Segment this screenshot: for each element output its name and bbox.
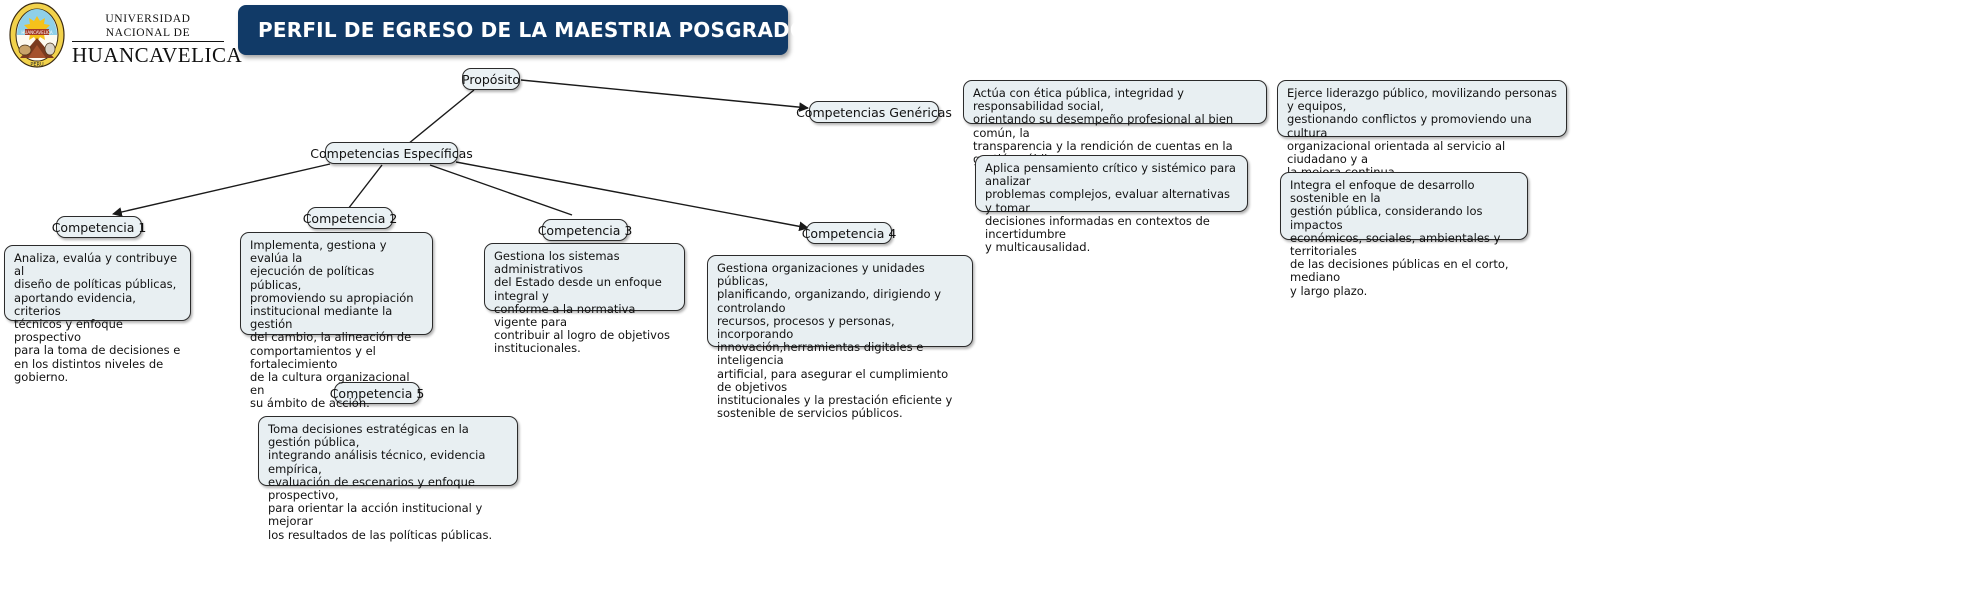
unh-crest-icon: HUANCAVELICA PERU — [8, 2, 66, 70]
university-name-line1: UNIVERSIDAD NACIONAL DE — [72, 12, 224, 42]
description-generica-desarrollo-sostenible: Integra el enfoque de desarrollo sosteni… — [1280, 172, 1528, 240]
description-competencia-4: Gestiona organizaciones y unidades públi… — [707, 255, 973, 347]
university-name: UNIVERSIDAD NACIONAL DE HUANCAVELICA — [72, 12, 224, 68]
node-competencia-2[interactable]: Competencia 2 — [307, 207, 393, 229]
node-competencia-3[interactable]: Competencia 3 — [542, 219, 628, 241]
node-competencia-4[interactable]: Competencia 4 — [806, 222, 892, 244]
university-logo-block: HUANCAVELICA PERU UNIVERSIDAD NACIONAL D… — [0, 0, 230, 72]
node-proposito[interactable]: Propósito — [462, 68, 520, 90]
node-competencias-especificas-label: Competencias Específicas — [310, 146, 472, 161]
node-proposito-label: Propósito — [462, 72, 520, 87]
edge-proposito-genericas — [521, 80, 808, 108]
description-generica-etica-publica: Actúa con ética pública, integridad y re… — [963, 80, 1267, 124]
node-competencias-genericas[interactable]: Competencias Genéricas — [809, 101, 939, 123]
page-title: PERFIL DE EGRESO DE LA MAESTRIA POSGRADO — [238, 18, 807, 42]
node-competencia-1[interactable]: Competencia 1 — [56, 216, 142, 238]
edge-proposito-especificas — [408, 90, 474, 144]
svg-text:HUANCAVELICA: HUANCAVELICA — [21, 30, 52, 35]
description-generica-pensamiento-critico: Aplica pensamiento crítico y sistémico p… — [975, 155, 1248, 212]
svg-text:PERU: PERU — [30, 62, 44, 68]
edge-especificas-c1 — [113, 164, 330, 214]
node-competencias-especificas[interactable]: Competencias Específicas — [325, 142, 458, 164]
diagram-canvas: HUANCAVELICA PERU UNIVERSIDAD NACIONAL D… — [0, 0, 1970, 613]
node-competencia-3-label: Competencia 3 — [538, 223, 633, 238]
edge-especificas-c4 — [456, 162, 808, 228]
description-generica-liderazgo-publico: Ejerce liderazgo público, movilizando pe… — [1277, 80, 1567, 137]
edge-especificas-c3 — [430, 165, 572, 215]
node-competencia-4-label: Competencia 4 — [802, 226, 897, 241]
node-competencias-genericas-label: Competencias Genéricas — [796, 105, 952, 120]
node-competencia-1-label: Competencia 1 — [52, 220, 147, 235]
title-banner: PERFIL DE EGRESO DE LA MAESTRIA POSGRADO — [238, 5, 788, 55]
description-competencia-2: Implementa, gestiona y evalúa la ejecuci… — [240, 232, 433, 335]
node-competencia-2-label: Competencia 2 — [303, 211, 398, 226]
description-competencia-3: Gestiona los sistemas administrativos de… — [484, 243, 685, 311]
university-name-line2: HUANCAVELICA — [72, 42, 224, 68]
edge-especificas-c2 — [348, 165, 382, 209]
description-competencia-5: Toma decisiones estratégicas en la gesti… — [258, 416, 518, 486]
description-competencia-1: Analiza, evalúa y contribuye al diseño d… — [4, 245, 191, 321]
